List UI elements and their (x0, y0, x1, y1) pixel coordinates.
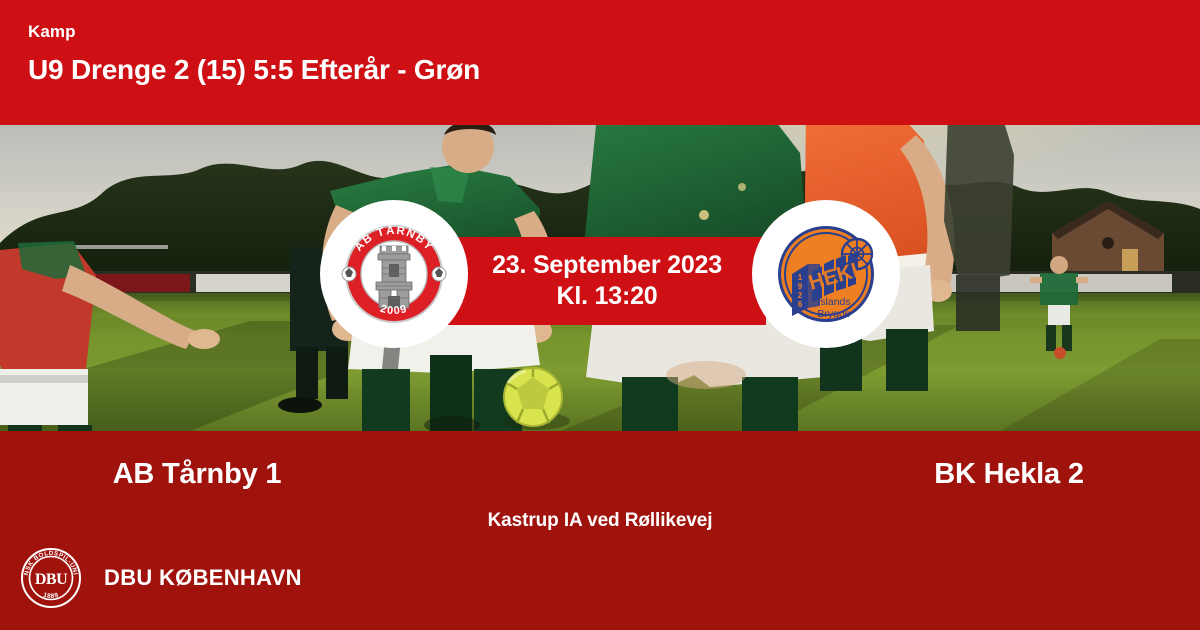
away-crest-year-1: 1 (798, 273, 803, 282)
match-poster: Kamp U9 Drenge 2 (15) 5:5 Efterår - Grøn (0, 0, 1200, 630)
dbu-org-name: DBU KØBENHAVN (104, 565, 302, 591)
page-title: U9 Drenge 2 (15) 5:5 Efterår - Grøn (28, 53, 1200, 87)
match-time: Kl. 13:20 (556, 281, 657, 312)
header-kicker: Kamp (28, 22, 1200, 42)
away-crest-year-4: 6 (798, 300, 803, 309)
footer-branding: DANSK BOLDSPIL-UNION DBU 1889 DBU KØBENH… (20, 547, 302, 609)
home-team-name: AB Tårnby 1 (0, 457, 600, 491)
team-names-row: AB Tårnby 1 BK Hekla 2 (0, 457, 1200, 491)
dbu-monogram: DBU (35, 571, 68, 588)
ab-taarnby-crest-icon: AB TÅRNBY 2009 (332, 212, 456, 336)
match-date-banner: 23. September 2023 Kl. 13:20 (448, 237, 766, 325)
away-team-crest: 1 9 2 6 HEKL Islands Brygge (752, 200, 900, 348)
away-crest-year-3: 2 (798, 291, 803, 300)
dbu-emblem-icon: DANSK BOLDSPIL-UNION DBU 1889 (20, 547, 82, 609)
home-team-crest: AB TÅRNBY 2009 (320, 200, 468, 348)
away-crest-line2: Brygge (817, 308, 850, 320)
away-team-name: BK Hekla 2 (600, 457, 1200, 491)
venue-name: Kastrup IA ved Røllikevej (0, 509, 1200, 533)
away-crest-line1: Islands (817, 296, 850, 308)
away-crest-year-2: 9 (798, 282, 803, 291)
match-date: 23. September 2023 (492, 250, 722, 281)
bk-hekla-crest-icon: 1 9 2 6 HEKL Islands Brygge (764, 212, 888, 336)
poster-header: Kamp U9 Drenge 2 (15) 5:5 Efterår - Grøn (0, 0, 1200, 125)
